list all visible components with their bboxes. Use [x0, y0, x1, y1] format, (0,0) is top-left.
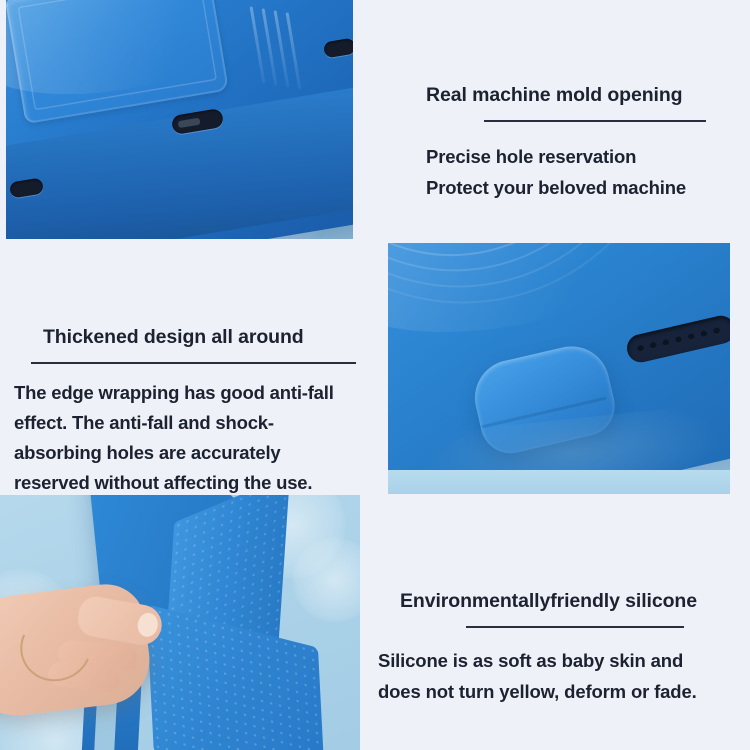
- feature-line: does not turn yellow, deform or fade.: [378, 677, 708, 708]
- grille-hole-icon: [674, 335, 682, 343]
- grille-hole-icon: [700, 330, 708, 338]
- feature-line: Silicone is as soft as baby skin and: [378, 646, 708, 677]
- grille-hole-icon: [662, 338, 670, 346]
- heading-eco-silicone: Environmentallyfriendly silicone: [400, 590, 708, 613]
- heading-mold-opening: Real machine mold opening: [426, 84, 706, 107]
- text-block-eco-silicone: Environmentallyfriendly silicone Silicon…: [378, 590, 708, 707]
- product-image-corner-closeup: [388, 243, 730, 494]
- heading-thickened-design: Thickened design all around: [43, 326, 356, 349]
- product-image-hand-flex: [0, 495, 360, 750]
- text-block-mold-opening: Real machine mold opening Precise hole r…: [426, 84, 706, 203]
- grille-hole-icon: [636, 344, 644, 352]
- product-collage: Real machine mold opening Precise hole r…: [0, 0, 750, 750]
- grille-hole-icon: [712, 327, 720, 335]
- feature-line: Precise hole reservation: [426, 142, 706, 173]
- case-flap-lower-textured: [146, 604, 326, 750]
- feature-paragraph: The edge wrapping has good anti-fall eff…: [14, 378, 356, 499]
- heading-divider: [466, 626, 684, 628]
- feature-line: Protect your beloved machine: [426, 173, 706, 204]
- corner-panel-base-strip: [388, 470, 730, 494]
- grille-hole-icon: [649, 341, 657, 349]
- product-image-port-cutouts: [6, 0, 353, 239]
- grille-hole-icon: [687, 332, 695, 340]
- heading-divider: [484, 120, 706, 122]
- heading-divider: [31, 362, 356, 364]
- text-block-thickened-design: Thickened design all around The edge wra…: [14, 326, 356, 499]
